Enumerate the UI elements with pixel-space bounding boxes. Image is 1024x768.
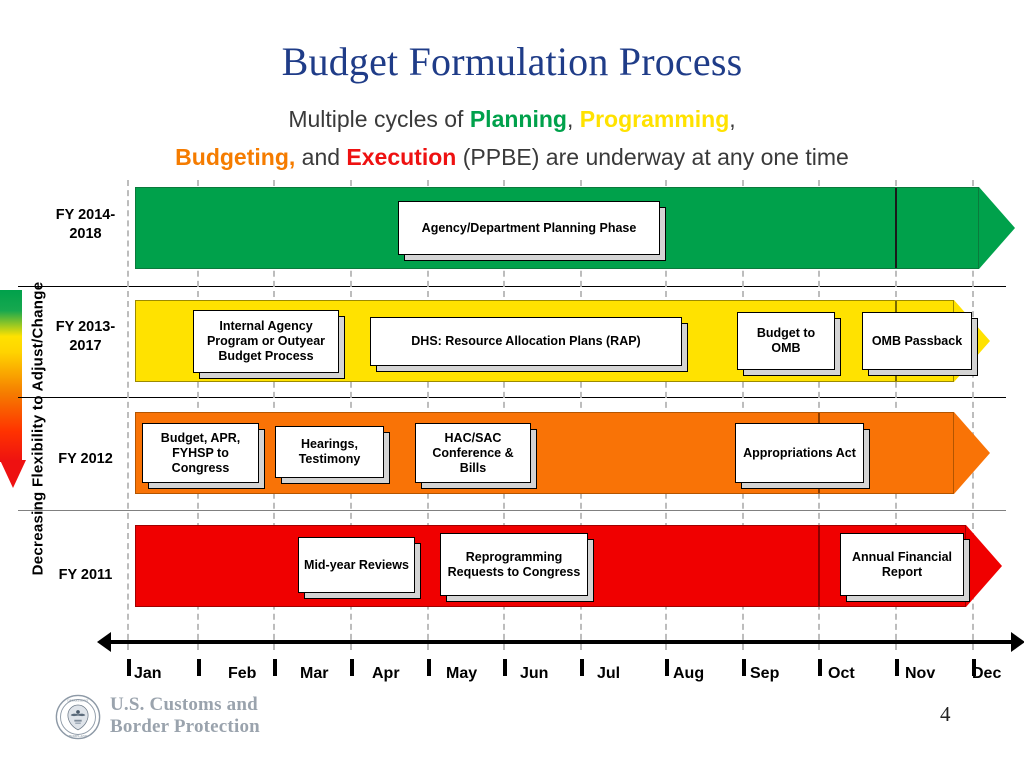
month-tick-apr xyxy=(350,659,354,676)
month-tick-jan xyxy=(127,659,131,676)
subtitle-text-pre: Multiple cycles of xyxy=(288,106,470,132)
cbp-wordmark-line1: U.S. Customs and xyxy=(110,694,260,716)
month-label-oct: Oct xyxy=(828,665,855,683)
row-separator-1 xyxy=(18,286,1006,287)
month-tick-sep xyxy=(742,659,746,676)
milestone-line-red xyxy=(818,526,820,606)
fy-label-2012: FY 2012 xyxy=(38,450,133,469)
dhs-seal-icon: DEPARTMENT HOMELAND xyxy=(55,694,101,740)
fy-label-line1: FY 2011 xyxy=(59,567,113,583)
row-separator-3 xyxy=(18,510,1006,511)
subtitle: Multiple cycles of Planning, Programming… xyxy=(62,100,962,176)
phase-box-mid-year-reviews[interactable]: Mid-year Reviews xyxy=(298,537,415,593)
month-label-apr: Apr xyxy=(372,665,400,683)
month-tick-may xyxy=(427,659,431,676)
fy-label-2014-2018: FY 2014- 2018 xyxy=(38,206,133,244)
phase-box-hearings-testimony[interactable]: Hearings, Testimony xyxy=(275,426,384,478)
page-number: 4 xyxy=(940,702,951,727)
month-tick-jun xyxy=(503,659,507,676)
month-tick-feb xyxy=(197,659,201,676)
month-tick-jul xyxy=(580,659,584,676)
subtitle-and: and xyxy=(295,144,346,170)
month-tick-aug xyxy=(665,659,669,676)
milestone-line-green xyxy=(895,188,897,268)
slide-canvas: Budget Formulation Process Multiple cycl… xyxy=(0,0,1024,768)
phase-box-dhs-rap[interactable]: DHS: Resource Allocation Plans (RAP) xyxy=(370,317,682,366)
phase-box-reprogramming-requests[interactable]: Reprogramming Requests to Congress xyxy=(440,533,588,596)
phase-box-annual-financial-report[interactable]: Annual Financial Report xyxy=(840,533,964,596)
phase-box-budget-to-omb[interactable]: Budget to OMB xyxy=(737,312,835,370)
cbp-wordmark: U.S. Customs and Border Protection xyxy=(110,694,260,738)
subtitle-execution: Execution xyxy=(346,144,456,170)
axis-arrow-right-icon xyxy=(1011,632,1024,652)
phase-box-agency-department-planning[interactable]: Agency/Department Planning Phase xyxy=(398,201,660,255)
month-label-jun: Jun xyxy=(520,665,548,683)
month-tick-mar xyxy=(273,659,277,676)
fy-label-line2: 2018 xyxy=(69,226,101,242)
fy-label-line1: FY 2012 xyxy=(58,451,113,467)
month-label-jul: Jul xyxy=(597,665,620,683)
subtitle-sep2: , xyxy=(729,106,735,132)
subtitle-line1: Multiple cycles of Planning, Programming… xyxy=(288,106,735,132)
svg-text:DEPARTMENT: DEPARTMENT xyxy=(67,698,88,702)
axis-arrow-left-icon xyxy=(97,632,111,652)
month-tick-oct xyxy=(818,659,822,676)
month-label-dec: Dec xyxy=(972,665,1001,683)
phase-box-omb-passback[interactable]: OMB Passback xyxy=(862,312,972,370)
fy-label-line2: 2017 xyxy=(69,338,101,354)
month-label-nov: Nov xyxy=(905,665,935,683)
subtitle-budgeting: Budgeting, xyxy=(175,144,295,170)
month-label-sep: Sep xyxy=(750,665,779,683)
fy-label-2011: FY 2011 xyxy=(38,566,133,585)
phase-box-appropriations-act[interactable]: Appropriations Act xyxy=(735,423,864,483)
fy-label-2013-2017: FY 2013- 2017 xyxy=(38,318,133,356)
month-label-may: May xyxy=(446,665,477,683)
flexibility-gradient-arrow-icon xyxy=(0,290,26,495)
page-title: Budget Formulation Process xyxy=(0,38,1024,85)
month-label-aug: Aug xyxy=(673,665,704,683)
subtitle-programming: Programming xyxy=(580,106,730,132)
month-label-mar: Mar xyxy=(300,665,328,683)
cbp-wordmark-line2: Border Protection xyxy=(110,716,260,738)
fy-label-line1: FY 2014- xyxy=(56,207,115,223)
row-separator-2 xyxy=(18,397,1006,398)
y-axis-label: Decreasing Flexibility to Adjust/Change xyxy=(30,239,47,619)
fy-label-line1: FY 2013- xyxy=(56,319,115,335)
phase-box-hac-sac-conference[interactable]: HAC/SAC Conference & Bills xyxy=(415,423,531,483)
subtitle-planning: Planning xyxy=(470,106,567,132)
subtitle-line2: Budgeting, and Execution (PPBE) are unde… xyxy=(175,144,849,170)
svg-text:HOMELAND: HOMELAND xyxy=(69,734,88,738)
month-tick-nov xyxy=(895,659,899,676)
subtitle-text-post: (PPBE) are underway at any one time xyxy=(456,144,848,170)
phase-box-budget-apr-fyhsp[interactable]: Budget, APR, FYHSP to Congress xyxy=(142,423,259,483)
timeline-axis xyxy=(110,640,1015,644)
month-label-jan: Jan xyxy=(134,665,162,683)
timeline-chart: Decreasing Flexibility to Adjust/Change … xyxy=(0,180,1024,650)
subtitle-sep1: , xyxy=(567,106,580,132)
phase-box-internal-agency-program[interactable]: Internal Agency Program or Outyear Budge… xyxy=(193,310,339,373)
month-label-feb: Feb xyxy=(228,665,256,683)
